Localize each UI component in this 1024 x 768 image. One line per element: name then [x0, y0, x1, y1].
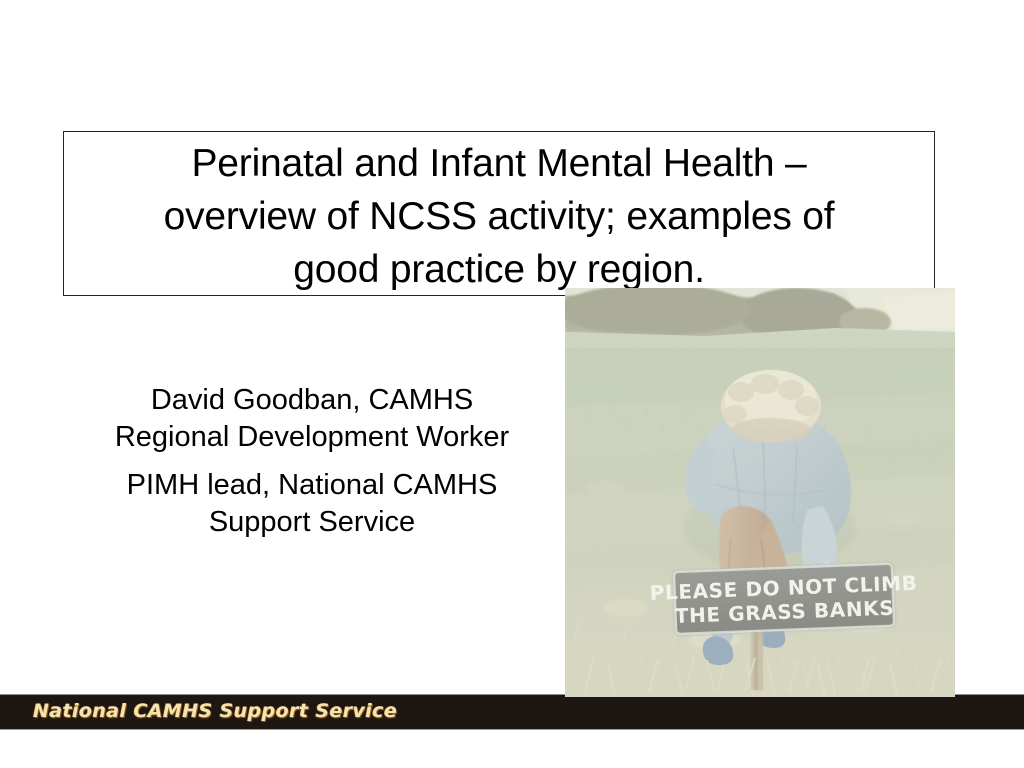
presenter-name-role: David Goodban, CAMHS Regional Developmen… — [58, 382, 566, 456]
footer-brand-label: National CAMHS Support Service — [33, 700, 397, 722]
slide-photo: PLEASE DO NOT CLIMB THE GRASS BANKS — [565, 288, 955, 697]
photo-artwork: PLEASE DO NOT CLIMB THE GRASS BANKS — [565, 288, 955, 697]
presenter-affiliation: PIMH lead, National CAMHS Support Servic… — [58, 467, 566, 541]
page-title: Perinatal and Infant Mental Health – ove… — [63, 137, 935, 299]
presenter-details: David Goodban, CAMHS Regional Developmen… — [58, 382, 566, 541]
presentation-slide: Perinatal and Infant Mental Health – ove… — [0, 0, 1024, 768]
